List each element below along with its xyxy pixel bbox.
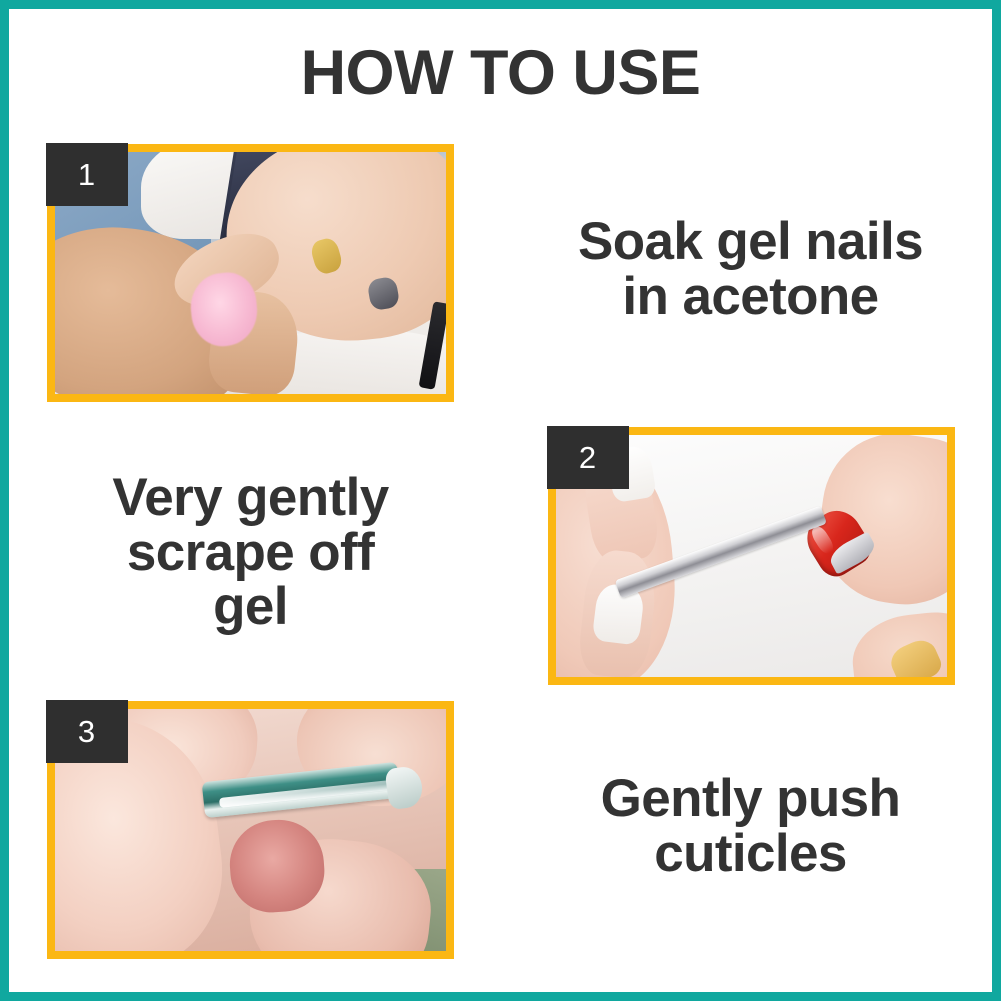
- step-2-photo-cell: 2: [501, 421, 1001, 685]
- step-row-1: 1 Soak gel nails in acetone: [0, 135, 1001, 405]
- step-1-number-badge: 1: [46, 143, 128, 206]
- step-3-caption-cell: Gently push cuticles: [500, 772, 1001, 881]
- step-1-photo-card: 1: [47, 144, 454, 402]
- step-3-caption-line-1: Gently push: [601, 772, 901, 827]
- step-3-caption: Gently push cuticles: [601, 772, 901, 881]
- step-3-photo-card: 3: [47, 701, 454, 959]
- step-2-caption-line-2: scrape off: [112, 526, 388, 581]
- step-3-caption-line-2: cuticles: [601, 827, 901, 882]
- step-3-photo-cell: 3: [0, 695, 500, 959]
- step-row-3: 3 Gently push cuticles: [0, 692, 1001, 962]
- step-1-caption-line-1: Soak gel nails: [578, 215, 923, 270]
- step-3-number-badge: 3: [46, 700, 128, 763]
- step-row-2: 2 Very gently scrape off gel: [0, 418, 1001, 688]
- step-2-caption-line-3: gel: [112, 580, 388, 635]
- step-1-caption: Soak gel nails in acetone: [578, 215, 923, 324]
- step-2-caption: Very gently scrape off gel: [112, 471, 388, 635]
- step-2-caption-cell: Very gently scrape off gel: [0, 471, 501, 635]
- step-2-photo-card: 2: [548, 427, 955, 685]
- how-to-use-infographic: HOW TO USE: [0, 0, 1001, 1001]
- step-2-number-badge: 2: [547, 426, 629, 489]
- step-1-caption-cell: Soak gel nails in acetone: [500, 215, 1001, 324]
- step-2-caption-line-1: Very gently: [112, 471, 388, 526]
- step-1-caption-line-2: in acetone: [578, 270, 923, 325]
- page-title: HOW TO USE: [0, 42, 1001, 105]
- step-1-photo-cell: 1: [0, 138, 500, 402]
